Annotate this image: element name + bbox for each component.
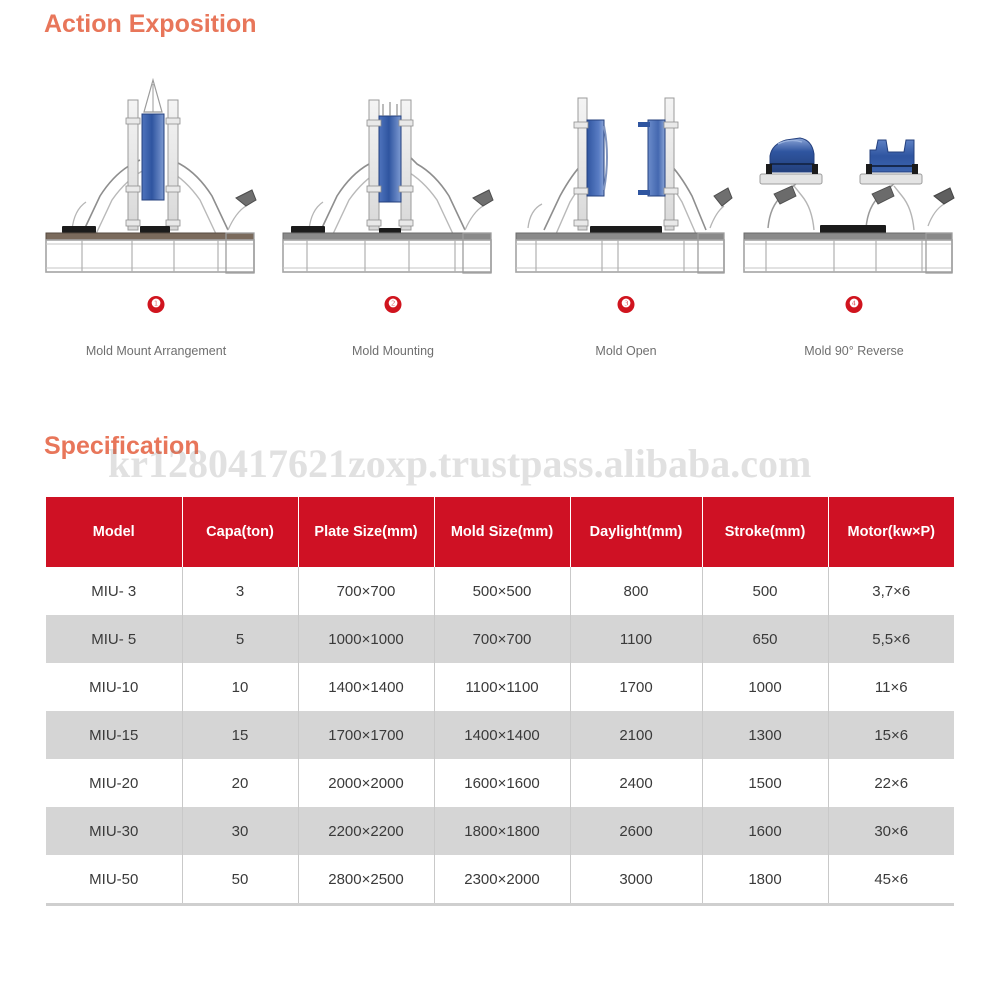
cell-motor: 45×6: [828, 855, 954, 905]
column-header-mold-size: Mold Size(mm): [434, 497, 570, 567]
cell-mold-size: 1100×1100: [434, 663, 570, 711]
watermark-text: kr1280417621zoxp.trustpass.alibaba.com: [108, 440, 811, 487]
cell-capa: 5: [182, 615, 298, 663]
press-mold-mounting-icon: [277, 78, 509, 283]
cell-daylight: 3000: [570, 855, 702, 905]
cell-stroke: 1500: [702, 759, 828, 807]
action-exposition-diagram-strip: ❶ Mold Mount Arrangement: [40, 78, 970, 378]
cell-stroke: 1300: [702, 711, 828, 759]
cell-plate-size: 1400×1400: [298, 663, 434, 711]
cell-model: MIU-20: [46, 759, 182, 807]
press-mold-90-reverse-icon: [738, 78, 970, 283]
table-row: MIU-30 30 2200×2200 1800×1800 2600 1600 …: [46, 807, 954, 855]
press-mold-mount-arrangement-icon: [40, 78, 272, 283]
cell-capa: 3: [182, 567, 298, 615]
cell-capa: 10: [182, 663, 298, 711]
cell-stroke: 650: [702, 615, 828, 663]
cell-stroke: 500: [702, 567, 828, 615]
step-number-badge: ❹: [846, 296, 863, 313]
step-caption: Mold Open: [510, 344, 742, 358]
cell-model: MIU-30: [46, 807, 182, 855]
cell-capa: 15: [182, 711, 298, 759]
cell-motor: 22×6: [828, 759, 954, 807]
cell-daylight: 2600: [570, 807, 702, 855]
cell-daylight: 2400: [570, 759, 702, 807]
cell-capa: 50: [182, 855, 298, 905]
column-header-capa: Capa(ton): [182, 497, 298, 567]
column-header-daylight: Daylight(mm): [570, 497, 702, 567]
cell-daylight: 800: [570, 567, 702, 615]
cell-plate-size: 700×700: [298, 567, 434, 615]
cell-stroke: 1000: [702, 663, 828, 711]
step-caption: Mold Mounting: [277, 344, 509, 358]
step-number-badge: ❷: [385, 296, 402, 313]
table-row: MIU-50 50 2800×2500 2300×2000 3000 1800 …: [46, 855, 954, 905]
diagram-step-4: ❹ Mold 90° Reverse: [738, 78, 970, 378]
cell-daylight: 2100: [570, 711, 702, 759]
cell-motor: 11×6: [828, 663, 954, 711]
table-row: MIU-15 15 1700×1700 1400×1400 2100 1300 …: [46, 711, 954, 759]
step-number-badge: ❶: [148, 296, 165, 313]
cell-plate-size: 1000×1000: [298, 615, 434, 663]
cell-capa: 20: [182, 759, 298, 807]
page-title-specification: Specification: [44, 432, 200, 461]
cell-mold-size: 700×700: [434, 615, 570, 663]
table-row: MIU-20 20 2000×2000 1600×1600 2400 1500 …: [46, 759, 954, 807]
cell-mold-size: 2300×2000: [434, 855, 570, 905]
table-header-row: Model Capa(ton) Plate Size(mm) Mold Size…: [46, 497, 954, 567]
column-header-motor: Motor(kw×P): [828, 497, 954, 567]
diagram-step-1: ❶ Mold Mount Arrangement: [40, 78, 272, 378]
cell-model: MIU- 3: [46, 567, 182, 615]
table-row: MIU- 3 3 700×700 500×500 800 500 3,7×6: [46, 567, 954, 615]
column-header-stroke: Stroke(mm): [702, 497, 828, 567]
page-title-action-exposition: Action Exposition: [44, 10, 257, 39]
cell-capa: 30: [182, 807, 298, 855]
cell-model: MIU-50: [46, 855, 182, 905]
cell-motor: 3,7×6: [828, 567, 954, 615]
cell-plate-size: 2200×2200: [298, 807, 434, 855]
cell-motor: 30×6: [828, 807, 954, 855]
cell-plate-size: 1700×1700: [298, 711, 434, 759]
diagram-step-3: ❸ Mold Open: [510, 78, 742, 378]
cell-stroke: 1600: [702, 807, 828, 855]
cell-mold-size: 1800×1800: [434, 807, 570, 855]
cell-motor: 5,5×6: [828, 615, 954, 663]
step-caption: Mold 90° Reverse: [738, 344, 970, 358]
cell-mold-size: 1400×1400: [434, 711, 570, 759]
specification-table: Model Capa(ton) Plate Size(mm) Mold Size…: [46, 497, 954, 906]
cell-mold-size: 500×500: [434, 567, 570, 615]
column-header-plate-size: Plate Size(mm): [298, 497, 434, 567]
cell-motor: 15×6: [828, 711, 954, 759]
cell-model: MIU- 5: [46, 615, 182, 663]
cell-mold-size: 1600×1600: [434, 759, 570, 807]
diagram-step-2: ❷ Mold Mounting: [277, 78, 509, 378]
table-row: MIU-10 10 1400×1400 1100×1100 1700 1000 …: [46, 663, 954, 711]
cell-stroke: 1800: [702, 855, 828, 905]
cell-plate-size: 2000×2000: [298, 759, 434, 807]
cell-daylight: 1700: [570, 663, 702, 711]
cell-plate-size: 2800×2500: [298, 855, 434, 905]
press-mold-open-icon: [510, 78, 742, 283]
table-row: MIU- 5 5 1000×1000 700×700 1100 650 5,5×…: [46, 615, 954, 663]
cell-daylight: 1100: [570, 615, 702, 663]
step-caption: Mold Mount Arrangement: [40, 344, 272, 358]
column-header-model: Model: [46, 497, 182, 567]
cell-model: MIU-15: [46, 711, 182, 759]
step-number-badge: ❸: [618, 296, 635, 313]
cell-model: MIU-10: [46, 663, 182, 711]
